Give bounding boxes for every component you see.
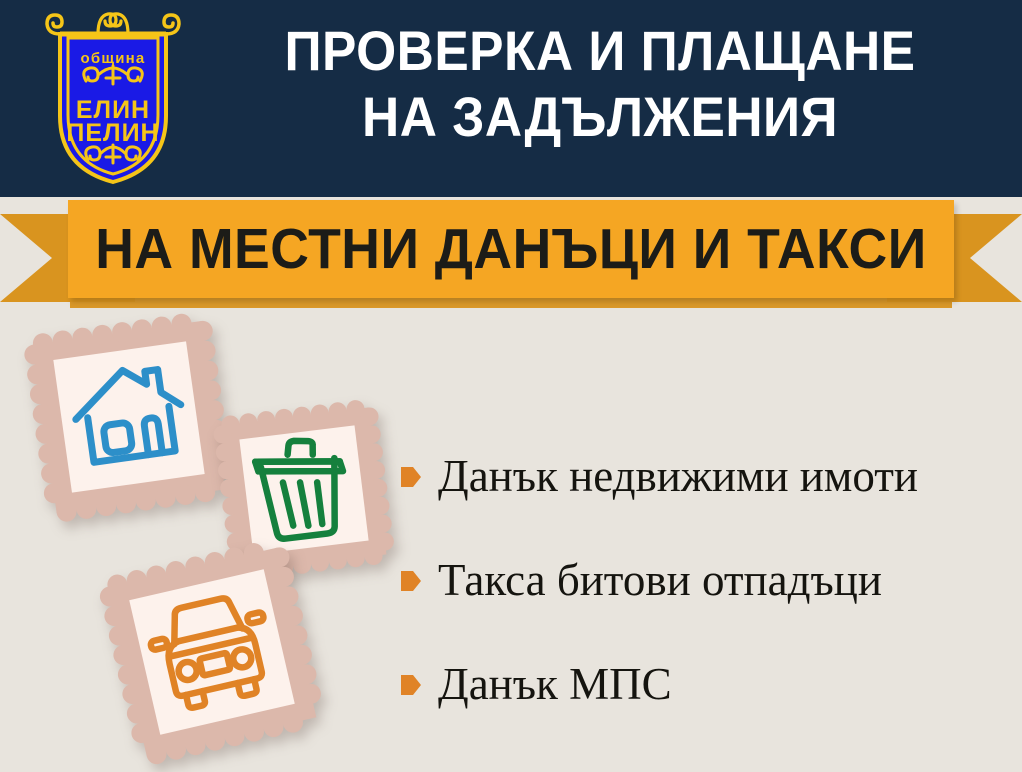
- list-item-label: Данък МПС: [438, 661, 672, 708]
- ribbon-label: НА МЕСТНИ ДАНЪЦИ И ТАКСИ: [95, 200, 928, 298]
- ribbon-band: НА МЕСТНИ ДАНЪЦИ И ТАКСИ: [68, 200, 954, 298]
- elin-pelin-crest-icon: община ЕЛИН ПЕЛИН: [38, 8, 188, 188]
- car-stamp-svg: [92, 532, 332, 772]
- page-title-line-1: ПРОВЕРКА И ПЛАЩАНЕ: [223, 18, 977, 84]
- stamp-card-car: [92, 532, 332, 772]
- ribbon-band-shadow: [70, 298, 952, 308]
- page-title-line-2: НА ЗАДЪЛЖЕНИЯ: [223, 84, 977, 150]
- list-item[interactable]: Такса битови отпадъци: [400, 529, 1020, 633]
- tax-type-list: Данък недвижими имоти Такса битови отпад…: [400, 425, 1020, 737]
- list-item-label: Данък недвижими имоти: [438, 453, 918, 500]
- arrow-bullet-icon: [400, 464, 422, 490]
- list-item[interactable]: Данък МПС: [400, 633, 1020, 737]
- logo-small-text: община: [81, 50, 146, 67]
- arrow-bullet-icon: [400, 568, 422, 594]
- list-item-label: Такса битови отпадъци: [438, 557, 882, 604]
- municipality-logo: община ЕЛИН ПЕЛИН: [38, 8, 188, 188]
- poster-header: община ЕЛИН ПЕЛИН: [0, 0, 1022, 197]
- arrow-bullet-icon: [400, 672, 422, 698]
- poster-canvas: община ЕЛИН ПЕЛИН: [0, 0, 1022, 772]
- logo-name-line-2: ПЕЛИН: [66, 119, 159, 147]
- page-title: ПРОВЕРКА И ПЛАЩАНЕ НА ЗАДЪЛЖЕНИЯ: [223, 18, 977, 150]
- list-item[interactable]: Данък недвижими имоти: [400, 425, 1020, 529]
- subtitle-ribbon: НА МЕСТНИ ДАНЪЦИ И ТАКСИ: [0, 197, 1022, 305]
